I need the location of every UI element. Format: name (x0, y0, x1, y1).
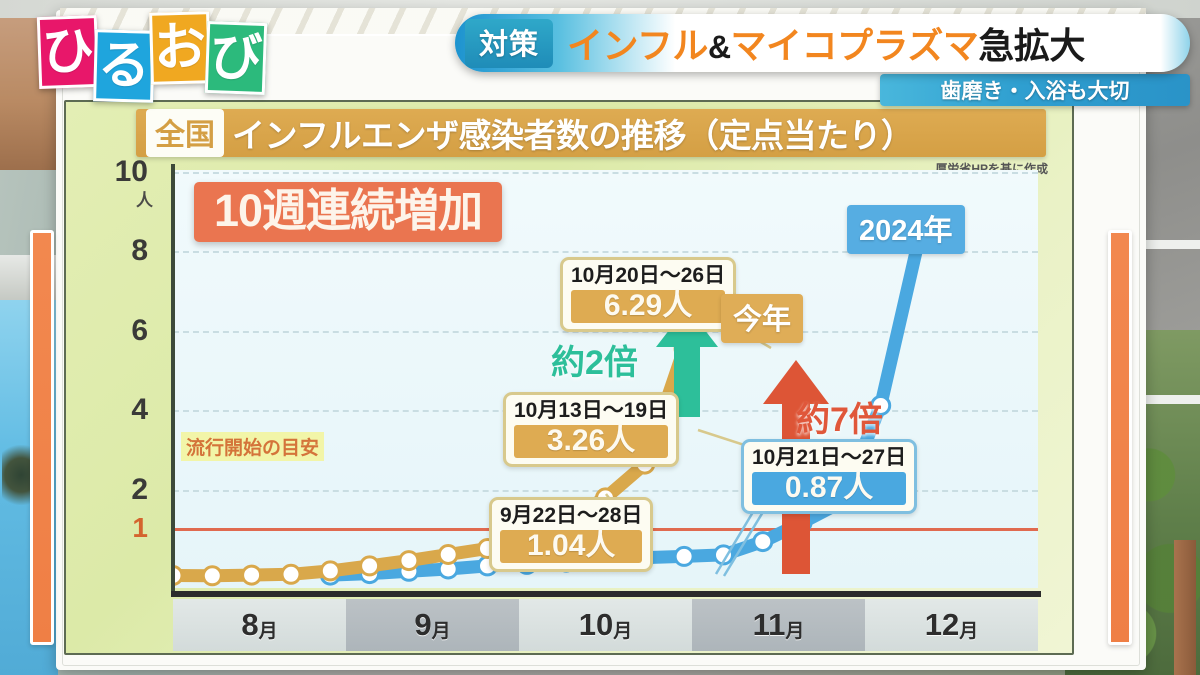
headline-part-a: インフル (567, 25, 708, 66)
chart-title-badge: 全国 (146, 109, 224, 157)
headline-part-b: マイコプラズマ (731, 25, 979, 66)
logo-tile-3: お (149, 11, 211, 85)
year-2024-tag: 2024年 (847, 205, 965, 254)
callout-oct21-date: 10月21日〜27日 (752, 446, 906, 470)
headline-callout-box: 10週連続増加 (194, 182, 502, 242)
y-tick-6: 6 (88, 314, 148, 348)
accent-bar-left (30, 230, 54, 645)
month-suffix-11: 月 (785, 616, 804, 643)
logo-tile-2: る (93, 29, 155, 103)
program-logo: ひ る お び (38, 12, 266, 102)
month-suffix-8: 月 (259, 616, 278, 643)
chart-panel: 全国 インフルエンザ感染者数の推移（定点当たり） 厚労省HPを基に作成 流行開始… (64, 100, 1074, 655)
callout-oct13-date: 10月13日〜19日 (514, 399, 668, 423)
month-label-10: 10 (579, 607, 613, 643)
callout-oct20-date: 10月20日〜26日 (571, 264, 725, 288)
month-cell-11: 11月 (692, 599, 865, 651)
logo-tile-1: ひ (37, 15, 99, 89)
threshold-label: 流行開始の目安 (181, 432, 324, 461)
month-label-8: 8 (241, 607, 258, 643)
month-suffix-9: 月 (432, 616, 451, 643)
callout-sep22: 9月22日〜28日 1.04人 (489, 497, 653, 572)
month-label-9: 9 (414, 607, 431, 643)
x-axis (171, 591, 1041, 597)
double-growth-label: 約2倍 (551, 335, 638, 384)
chart-title-bar: 全国 インフルエンザ感染者数の推移（定点当たり） (136, 109, 1046, 157)
month-cell-10: 10月 (519, 599, 692, 651)
month-cell-9: 9月 (346, 599, 519, 651)
logo-tile-4: び (205, 21, 267, 95)
accent-bar-right (1108, 230, 1132, 645)
y-axis (171, 164, 175, 595)
month-suffix-10: 月 (613, 616, 632, 643)
y-axis-unit: 人 (136, 186, 153, 211)
y-tick-10: 10 (88, 155, 148, 189)
y-tick-2: 2 (88, 473, 148, 507)
y-tick-4: 4 (88, 393, 148, 427)
headline-ampersand: & (708, 29, 731, 65)
y-tick-1: 1 (88, 512, 148, 544)
month-label-11: 11 (753, 607, 786, 643)
callout-oct21-value: 0.87人 (752, 472, 906, 506)
headline-text: インフル&マイコプラズマ急拡大 (567, 17, 1085, 69)
this-year-tag: 今年 (721, 294, 803, 343)
callout-oct13: 10月13日〜19日 3.26人 (503, 392, 679, 467)
chart-title-text: インフルエンザ感染者数の推移（定点当たり） (232, 109, 914, 157)
headline-banner: 対策 インフル&マイコプラズマ急拡大 (455, 14, 1190, 72)
sub-headline: 歯磨き・入浴も大切 (880, 74, 1190, 106)
y-tick-8: 8 (88, 234, 148, 268)
sevenfold-growth-label: 約7倍 (796, 392, 883, 441)
callout-oct21: 10月21日〜27日 0.87人 (741, 439, 917, 514)
background-tree-trunk (1174, 540, 1196, 675)
headline-badge: 対策 (465, 19, 553, 68)
headline-callout-text: 10週連続増加 (214, 188, 482, 233)
callout-oct13-value: 3.26人 (514, 425, 668, 459)
headline-part-c: 急拡大 (978, 25, 1085, 66)
month-suffix-12: 月 (959, 616, 978, 643)
callout-sep22-value: 1.04人 (500, 530, 642, 564)
callout-sep22-date: 9月22日〜28日 (500, 504, 642, 528)
month-label-12: 12 (925, 607, 959, 643)
month-cell-8: 8月 (173, 599, 346, 651)
month-cell-12: 12月 (865, 599, 1038, 651)
callout-oct20: 10月20日〜26日 6.29人 (560, 257, 736, 332)
callout-oct20-value: 6.29人 (571, 290, 725, 324)
x-axis-month-band: 8月 9月 10月 11月 12月 (173, 599, 1038, 651)
